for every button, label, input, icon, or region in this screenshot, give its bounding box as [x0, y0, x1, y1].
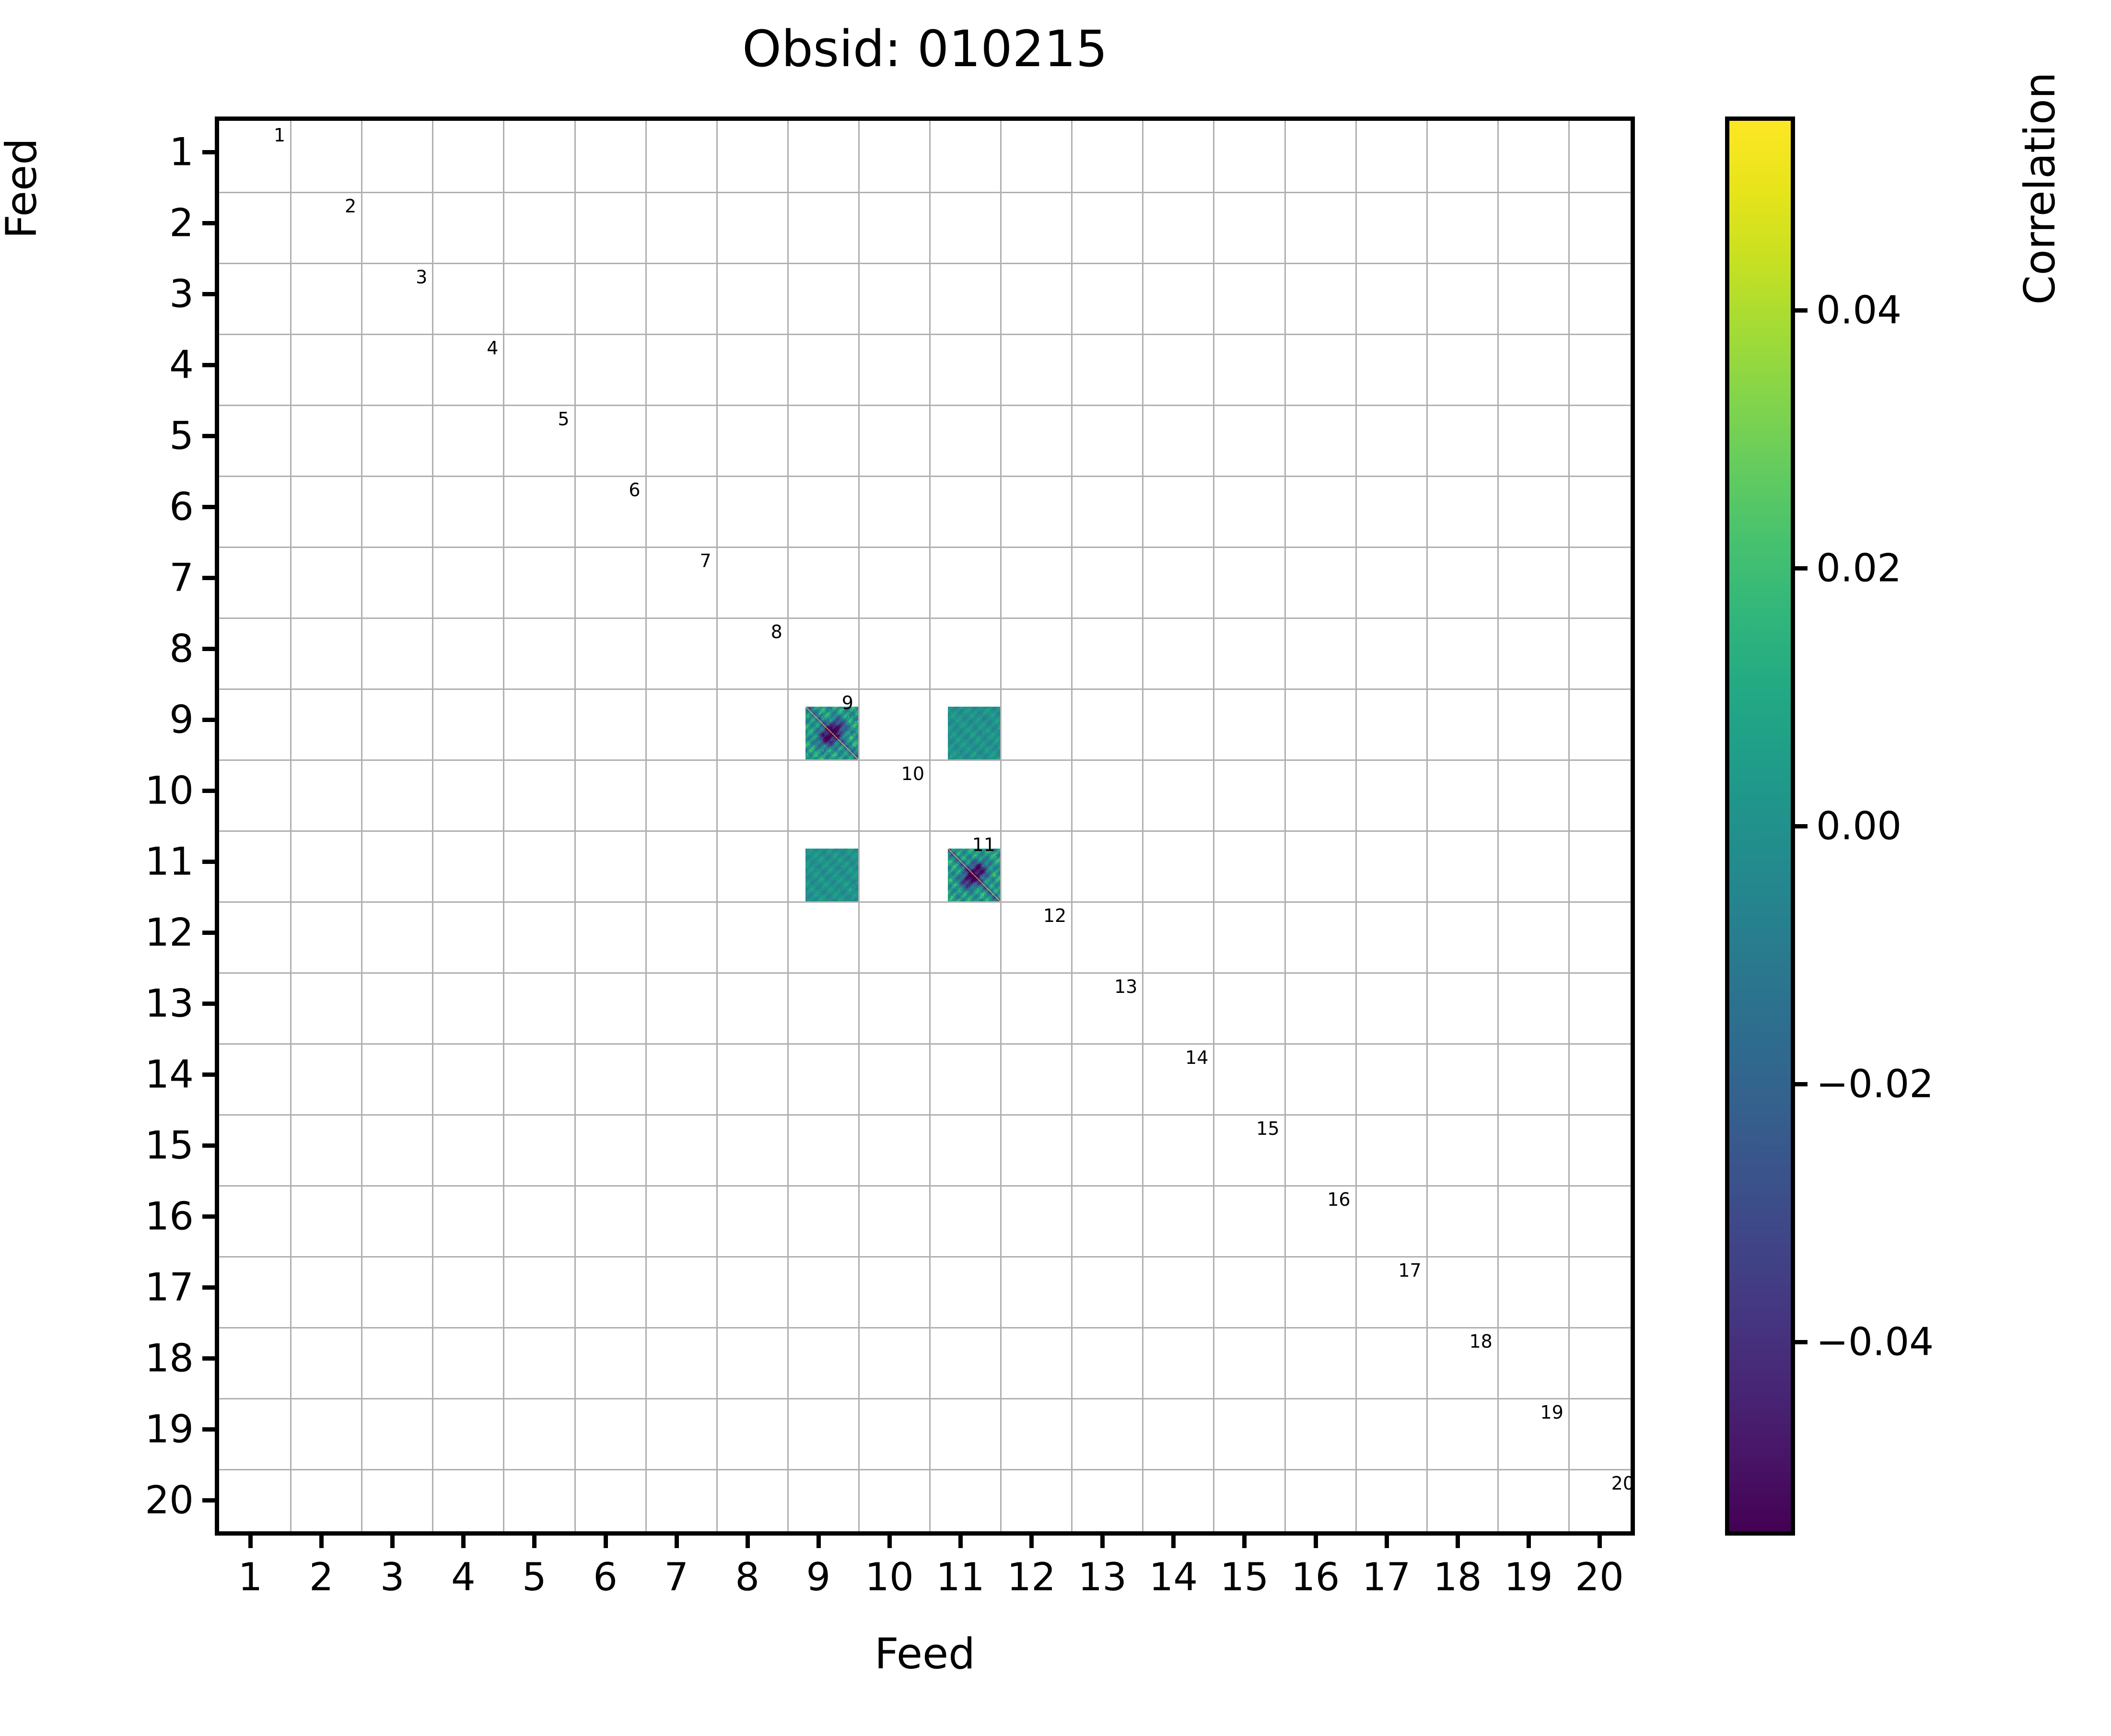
y-tick-mark	[202, 860, 215, 864]
x-tick-mark	[1242, 1536, 1247, 1548]
y-tick-mark	[202, 1356, 215, 1361]
y-tick-label: 1	[169, 130, 194, 175]
x-tick-mark	[1385, 1536, 1389, 1548]
y-tick-mark	[202, 718, 215, 722]
diagonal-cell-label: 7	[700, 550, 711, 571]
x-tick-label: 13	[1078, 1555, 1127, 1599]
colorbar-tick-mark	[1795, 1340, 1808, 1344]
x-tick-mark	[746, 1536, 750, 1548]
diagonal-cell-label: 19	[1540, 1402, 1563, 1423]
x-tick-mark	[390, 1536, 395, 1548]
colorbar	[1725, 117, 1795, 1536]
x-tick-mark	[675, 1536, 679, 1548]
x-tick-label: 11	[936, 1555, 985, 1599]
x-tick-label: 4	[451, 1555, 476, 1599]
y-tick-label: 10	[145, 769, 194, 813]
colorbar-tick-mark	[1795, 824, 1808, 828]
colorbar-label: Correlation	[2004, 0, 2076, 898]
diagonal-cell-label: 10	[901, 763, 924, 784]
y-tick-label: 2	[169, 201, 194, 245]
y-tick-label: 16	[145, 1194, 194, 1239]
y-tick-mark	[202, 1143, 215, 1148]
x-tick-label: 6	[593, 1555, 618, 1599]
y-tick-label: 7	[169, 556, 194, 600]
x-tick-mark	[816, 1536, 821, 1548]
x-tick-label: 17	[1362, 1555, 1411, 1599]
x-tick-mark	[461, 1536, 466, 1548]
diagonal-cell-label: 4	[487, 338, 498, 359]
heatmap-axes: 1234567891011121314151617181920	[215, 117, 1635, 1536]
x-tick-label: 12	[1007, 1555, 1056, 1599]
y-axis-label: Feed	[0, 0, 58, 898]
y-tick-label: 19	[145, 1407, 194, 1452]
diagonal-cell-label: 17	[1398, 1260, 1421, 1281]
x-tick-label: 9	[806, 1555, 830, 1599]
x-axis-label: Feed	[215, 1629, 1635, 1678]
diagonal-cell-label: 9	[842, 692, 853, 713]
y-tick-label: 8	[169, 627, 194, 671]
diagonal-cell-label: 12	[1043, 905, 1066, 926]
x-tick-label: 3	[380, 1555, 405, 1599]
y-tick-label: 17	[145, 1265, 194, 1310]
colorbar-tick-mark	[1795, 566, 1808, 571]
figure-canvas: Obsid: 010215 12345678910111213141516171…	[0, 0, 2111, 1736]
y-tick-mark	[202, 1072, 215, 1077]
y-tick-mark	[202, 292, 215, 296]
y-tick-mark	[202, 1427, 215, 1432]
diagonal-cell-label: 2	[345, 196, 356, 217]
x-tick-mark	[604, 1536, 608, 1548]
x-tick-mark	[1171, 1536, 1176, 1548]
x-tick-label: 20	[1575, 1555, 1624, 1599]
diagonal-cell-label: 14	[1185, 1047, 1208, 1068]
x-tick-mark	[1598, 1536, 1602, 1548]
x-tick-label: 1	[238, 1555, 263, 1599]
x-tick-mark	[1029, 1536, 1034, 1548]
x-tick-label: 10	[865, 1555, 914, 1599]
y-tick-mark	[202, 434, 215, 438]
x-tick-label: 19	[1504, 1555, 1553, 1599]
y-tick-label: 9	[169, 698, 194, 742]
x-tick-label: 15	[1220, 1555, 1269, 1599]
diagonal-cell-label: 13	[1114, 976, 1137, 997]
y-tick-mark	[202, 150, 215, 154]
y-tick-mark	[202, 1285, 215, 1290]
page-title: Obsid: 010215	[215, 19, 1635, 79]
x-tick-label: 2	[309, 1555, 334, 1599]
diagonal-cell-label: 18	[1469, 1331, 1492, 1352]
y-tick-label: 3	[169, 272, 194, 316]
y-tick-mark	[202, 1498, 215, 1503]
x-tick-mark	[887, 1536, 892, 1548]
y-tick-label: 11	[145, 839, 194, 884]
y-tick-mark	[202, 363, 215, 367]
y-tick-mark	[202, 221, 215, 225]
x-tick-mark	[1314, 1536, 1318, 1548]
x-tick-mark	[1456, 1536, 1460, 1548]
diagonal-cell-label: 1	[274, 125, 285, 146]
colorbar-tick-label: 0.02	[1816, 546, 1901, 590]
x-tick-label: 16	[1291, 1555, 1340, 1599]
diagonal-cell-label: 6	[629, 479, 640, 501]
colorbar-tick-label: −0.02	[1816, 1062, 1934, 1107]
y-tick-mark	[202, 647, 215, 651]
y-tick-label: 5	[169, 414, 194, 458]
x-tick-mark	[248, 1536, 253, 1548]
y-tick-label: 20	[145, 1478, 194, 1523]
x-tick-mark	[1100, 1536, 1105, 1548]
y-tick-label: 13	[145, 981, 194, 1026]
y-tick-label: 18	[145, 1336, 194, 1381]
y-tick-mark	[202, 1002, 215, 1006]
y-tick-mark	[202, 576, 215, 580]
diagonal-cell-label: 8	[771, 621, 782, 642]
y-tick-label: 12	[145, 910, 194, 955]
colorbar-tick-mark	[1795, 308, 1808, 313]
diagonal-cell-label: 16	[1327, 1189, 1350, 1210]
colorbar-tick-label: 0.04	[1816, 288, 1901, 332]
y-tick-label: 4	[169, 343, 194, 387]
x-tick-label: 18	[1433, 1555, 1482, 1599]
x-tick-label: 5	[522, 1555, 547, 1599]
x-tick-label: 7	[664, 1555, 688, 1599]
colorbar-tick-mark	[1795, 1082, 1808, 1086]
y-tick-label: 14	[145, 1052, 194, 1097]
y-tick-label: 15	[145, 1123, 194, 1168]
x-tick-label: 14	[1149, 1555, 1198, 1599]
diagonal-cell-label: 3	[416, 267, 427, 288]
x-tick-label: 8	[735, 1555, 759, 1599]
diagonal-cell-label: 11	[972, 834, 995, 855]
y-tick-label: 6	[169, 485, 194, 529]
y-tick-mark	[202, 931, 215, 935]
colorbar-gradient	[1729, 121, 1791, 1531]
x-tick-mark	[319, 1536, 324, 1548]
x-tick-mark	[532, 1536, 536, 1548]
y-tick-mark	[202, 505, 215, 509]
colorbar-tick-label: −0.04	[1816, 1320, 1934, 1364]
y-tick-mark	[202, 1214, 215, 1219]
diagonal-cell-label: 5	[558, 408, 569, 430]
diagonal-cell-label: 20	[1611, 1473, 1634, 1494]
diagonal-cell-labels: 1234567891011121314151617181920	[219, 121, 1631, 1531]
colorbar-tick-label: 0.00	[1816, 804, 1901, 849]
x-tick-mark	[958, 1536, 963, 1548]
x-tick-mark	[1527, 1536, 1531, 1548]
diagonal-cell-label: 15	[1256, 1118, 1279, 1139]
y-tick-mark	[202, 789, 215, 793]
